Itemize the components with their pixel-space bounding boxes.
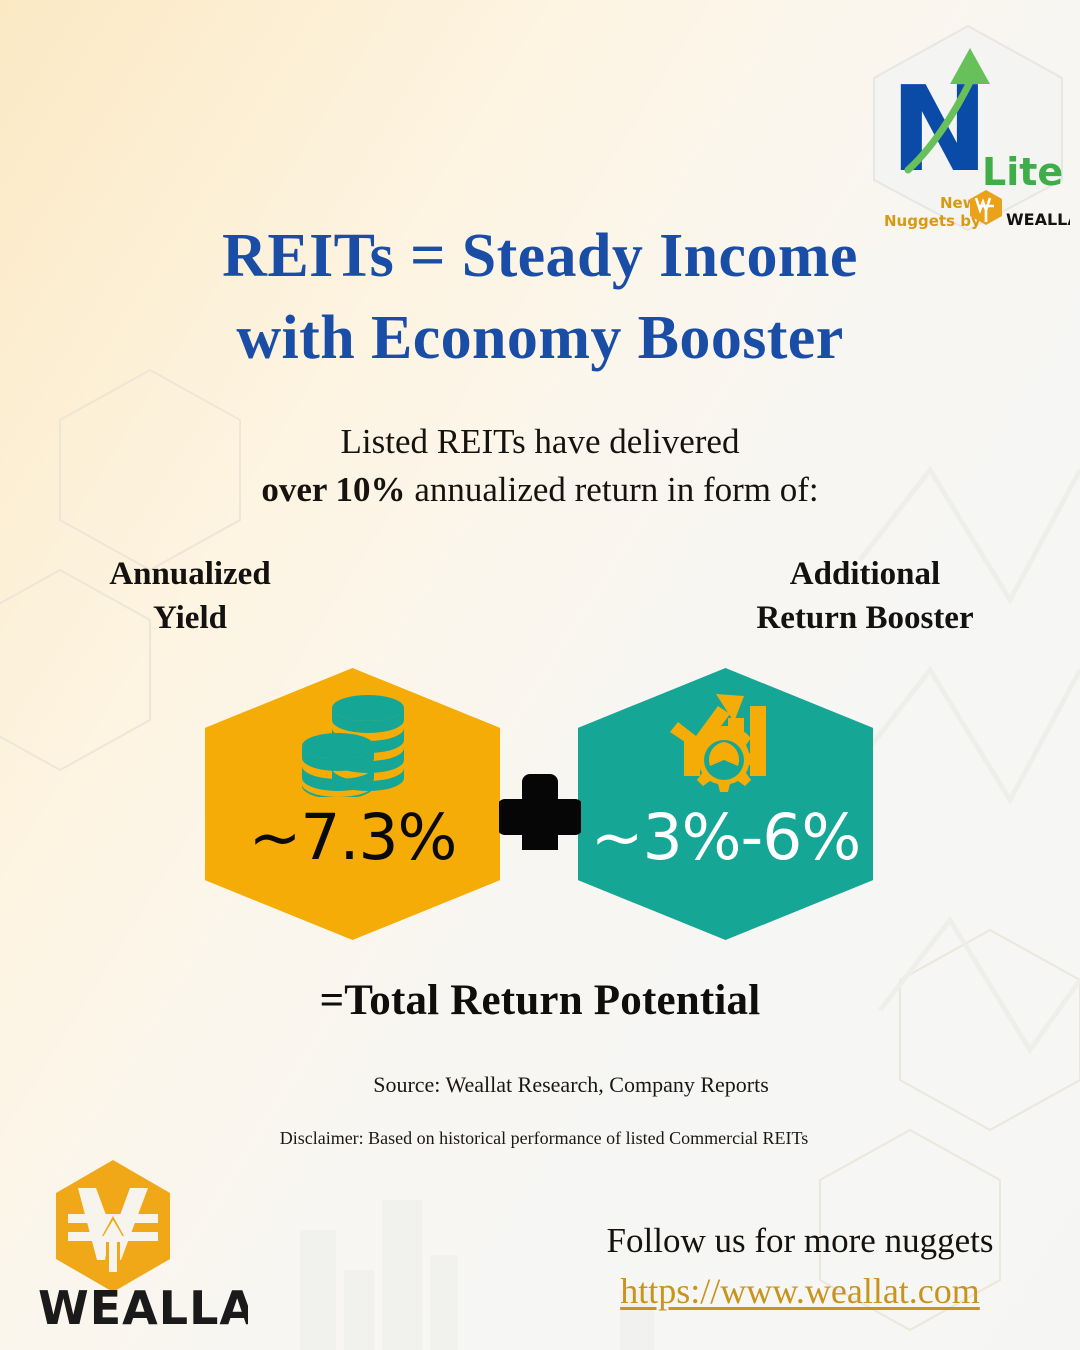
weallat-hex-mark (56, 1160, 170, 1292)
value-return-booster: ~3%-6% (591, 806, 860, 869)
source-note: Source: Weallat Research, Company Report… (0, 1072, 1080, 1098)
hexagon-return-booster: ~3%-6% (578, 668, 873, 940)
heading-booster-line-2: Return Booster (650, 596, 1080, 640)
heading-booster-line-1: Additional (650, 552, 1080, 596)
heading-return-booster: Additional Return Booster (540, 552, 1080, 640)
hexagon-annualized-yield: ~7.3% (205, 668, 500, 940)
heading-yield-line-2: Yield (0, 596, 380, 640)
subtitle: Listed REITs have delivered over 10% ann… (0, 418, 1080, 513)
value-annualized-yield: ~7.3% (249, 806, 457, 869)
metric-hexagons: ~7.3% ~3%-6% (0, 668, 1080, 948)
follow-us-text: Follow us for more nuggets (540, 1218, 1060, 1264)
coin-stack-icon (294, 690, 412, 800)
page-title: REITs = Steady Income with Economy Boost… (0, 216, 1080, 380)
title-line-2: with Economy Booster (0, 298, 1080, 380)
subtitle-highlight: over 10% (261, 470, 405, 509)
column-headings: Annualized Yield Additional Return Boost… (0, 552, 1080, 640)
total-return-label: =Total Return Potential (0, 976, 1080, 1025)
subtitle-line-2: over 10% annualized return in form of: (0, 466, 1080, 514)
nlite-lite-label: Lite (982, 150, 1063, 194)
gear-growth-chart-icon (666, 690, 786, 800)
subtitle-line-1: Listed REITs have delivered (0, 418, 1080, 466)
subtitle-rest: annualized return in form of: (406, 470, 819, 509)
nlite-weallat-wordmark: WEALLAT (1006, 210, 1070, 229)
heading-annualized-yield: Annualized Yield (0, 552, 540, 640)
heading-yield-line-1: Annualized (0, 552, 380, 596)
plus-icon (499, 768, 581, 850)
weallat-logo: WEALLAT (38, 1158, 248, 1330)
footer-follow-block: Follow us for more nuggets https://www.w… (540, 1218, 1060, 1312)
nlite-tagline-line2: Nuggets by (884, 212, 981, 230)
disclaimer-note: Disclaimer: Based on historical performa… (0, 1128, 1080, 1149)
website-link[interactable]: https://www.weallat.com (620, 1270, 980, 1312)
nlite-logo-badge: N Lite News Nuggets by WEALLAT (866, 22, 1070, 234)
weallat-wordmark: WEALLAT (38, 1281, 248, 1330)
